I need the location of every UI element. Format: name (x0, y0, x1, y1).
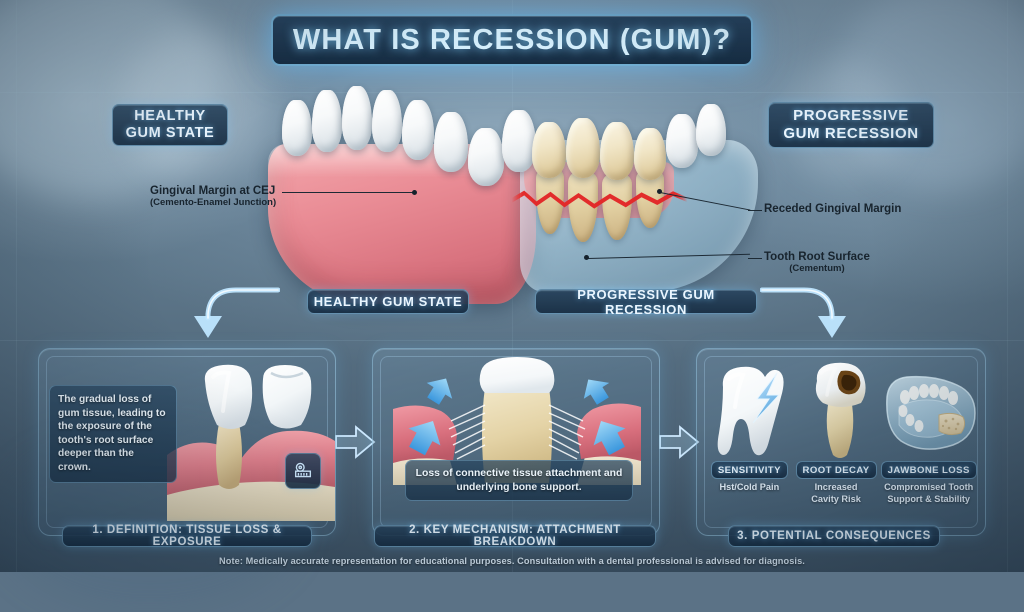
tooth-healthy (372, 90, 402, 152)
consequence-root-decay-sub-line2: Cavity Risk (793, 494, 880, 506)
tooth-healthy (312, 90, 342, 152)
leader-dot-gingival-margin (412, 190, 417, 195)
panel-caption-mechanism: 2. KEY MECHANISM: ATTACHMENT BREAKDOWN (374, 525, 656, 547)
consequence-root-decay-sub-line1: Increased (793, 482, 880, 494)
annotation-receded-margin-title: Receded Gingival Margin (764, 203, 901, 215)
tooth-receded (634, 128, 666, 180)
definition-illustration (167, 363, 335, 521)
consequence-sensitivity-label: SENSITIVITY (711, 461, 788, 479)
consequence-root-decay-sub: Increased Cavity Risk (793, 482, 880, 505)
progressive-label-line1: PROGRESSIVE (783, 107, 918, 125)
consequences-list: SENSITIVITY Hst/Cold Pain ROOT DECAY Inc… (706, 460, 978, 506)
grid-line (16, 0, 17, 572)
background-bokeh (0, 0, 220, 200)
label-healthy-gum-state: HEALTHY GUM STATE (112, 104, 228, 146)
consequence-jawbone-loss-sub: Compromised Tooth Support & Stability (879, 482, 978, 505)
tooth-healthy (468, 128, 504, 186)
panel-consequences[interactable]: SENSITIVITY Hst/Cold Pain ROOT DECAY Inc… (696, 348, 986, 536)
flow-arrow-panel1-to-panel2 (334, 422, 376, 462)
flow-arrow-panel2-to-panel3 (658, 422, 700, 462)
infographic-canvas: WHAT IS RECESSION (GUM)? HEALTHY GUM STA… (0, 0, 1024, 572)
tooth-receded (696, 104, 726, 156)
label-progressive-gum-recession: PROGRESSIVE GUM RECESSION (768, 102, 934, 148)
annotation-root-surface-title: Tooth Root Surface (764, 251, 870, 263)
annotation-root-surface-subtitle: (Cementum) (764, 263, 870, 274)
tooth-receded (666, 114, 698, 168)
leader-dot-receded-margin (657, 189, 662, 194)
consequence-sensitivity: SENSITIVITY Hst/Cold Pain (706, 460, 793, 494)
consequence-jawbone-loss-label: JAWBONE LOSS (881, 461, 977, 479)
tooth-healthy (342, 86, 372, 150)
footnote: Note: Medically accurate representation … (0, 556, 1024, 566)
grid-line (1007, 0, 1008, 572)
tooth-receded (600, 122, 634, 180)
panel-caption-definition: 1. DEFINITION: TISSUE LOSS & EXPOSURE (62, 525, 312, 547)
measuring-tape-icon (285, 453, 321, 489)
consequence-jawbone-loss-sub-line2: Support & Stability (879, 494, 978, 506)
page-title: WHAT IS RECESSION (GUM)? (271, 14, 753, 66)
background-bokeh (834, 0, 1024, 190)
leader-dot-root-surface (584, 255, 589, 260)
annotation-gingival-margin-title: Gingival Margin at CEJ (150, 185, 276, 197)
caption-healthy-gum-state: HEALTHY GUM STATE (307, 289, 469, 314)
panel-caption-consequences: 3. POTENTIAL CONSEQUENCES (728, 525, 940, 547)
consequence-jawbone-loss-sub-line1: Compromised Tooth (879, 482, 978, 494)
decayed-tooth-icon (807, 361, 873, 461)
consequence-jawbone-loss: JAWBONE LOSS Compromised Tooth Support &… (879, 460, 978, 506)
tooth-healthy (402, 100, 434, 160)
healthy-label-line2: GUM STATE (126, 125, 215, 142)
tooth-receded (566, 118, 600, 178)
tooth-lightning-icon (713, 363, 789, 461)
panel-mechanism[interactable]: Loss of connective tissue attachment and… (372, 348, 660, 536)
annotation-gingival-margin-subtitle: (Cemento-Enamel Junction) (150, 197, 276, 208)
consequence-sensitivity-sub: Hst/Cold Pain (706, 482, 793, 494)
leader-line-root-surface (748, 258, 762, 259)
consequence-root-decay: ROOT DECAY Increased Cavity Risk (793, 460, 880, 506)
caption-progressive-gum-recession: PROGRESSIVE GUM RECESSION (535, 289, 757, 314)
healthy-label-line1: HEALTHY (126, 108, 215, 125)
progressive-label-line2: GUM RECESSION (783, 125, 918, 143)
jawbone-icon (883, 367, 979, 459)
tooth-healthy (282, 100, 312, 156)
definition-body-text: The gradual loss of gum tissue, leading … (49, 385, 177, 483)
panel-definition[interactable]: The gradual loss of gum tissue, leading … (38, 348, 336, 536)
leader-line-gingival-margin (282, 192, 414, 193)
mechanism-body-text: Loss of connective tissue attachment and… (405, 460, 633, 501)
consequence-root-decay-label: ROOT DECAY (796, 461, 877, 479)
annotation-receded-margin: Receded Gingival Margin (764, 203, 901, 215)
tooth-receded (532, 122, 566, 178)
tooth-healthy (434, 112, 468, 172)
tooth-healthy (502, 110, 536, 172)
annotation-gingival-margin: Gingival Margin at CEJ (Cemento-Enamel J… (150, 185, 276, 208)
annotation-root-surface: Tooth Root Surface (Cementum) (764, 251, 870, 274)
jaw-illustration (250, 76, 780, 312)
